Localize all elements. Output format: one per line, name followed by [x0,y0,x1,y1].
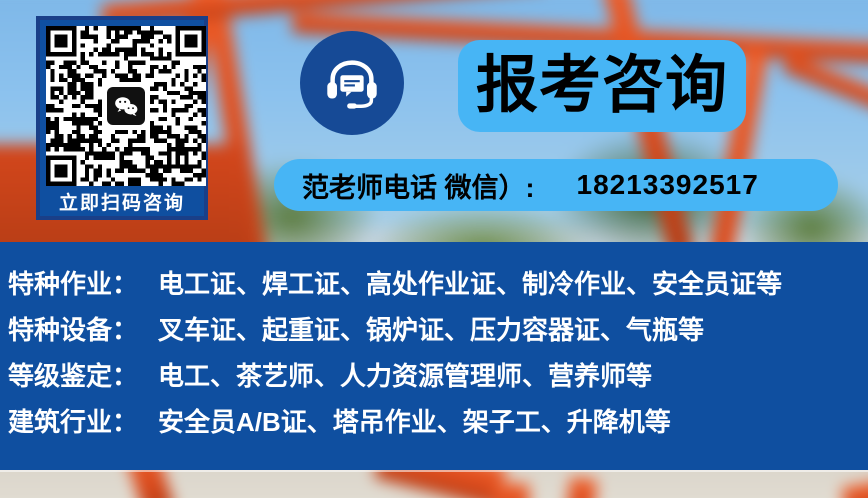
category-label: 等级鉴定： [8,356,158,393]
section-divider [0,470,868,472]
category-label: 特种作业： [8,264,158,301]
category-value: 电工、茶艺师、人力资源管理师、营养师等 [158,356,652,393]
list-item: 等级鉴定： 电工、茶艺师、人力资源管理师、营养师等 [8,356,868,402]
contact-phone-number[interactable]: 18213392517 [577,169,759,201]
category-label: 建筑行业： [8,402,158,439]
category-value: 电工证、焊工证、高处作业证、制冷作业、安全员证等 [158,264,782,301]
qr-card-caption: 立即扫码咨询 [46,186,198,222]
category-label: 特种设备： [8,310,158,347]
promo-poster: 立即扫码咨询 报考咨询 范老师电话 微信）: 18213392517 特种作业：… [0,0,868,498]
scaffold-beam [493,483,529,498]
wechat-icon [107,87,145,125]
headset-support-icon [300,31,404,135]
headline-badge: 报考咨询 [458,40,746,132]
category-list: 特种作业： 电工证、焊工证、高处作业证、制冷作业、安全员证等 特种设备： 叉车证… [0,242,868,470]
contact-pill[interactable]: 范老师电话 微信）: 18213392517 [274,159,838,211]
list-item: 特种作业： 电工证、焊工证、高处作业证、制冷作业、安全员证等 [8,264,868,310]
category-value: 叉车证、起重证、锅炉证、压力容器证、气瓶等 [158,310,704,347]
contact-label: 范老师电话 微信）: [302,166,535,205]
scaffold-beam [565,477,597,498]
category-value: 安全员A/B证、塔吊作业、架子工、升降机等 [158,402,671,439]
list-item: 建筑行业： 安全员A/B证、塔吊作业、架子工、升降机等 [8,402,868,448]
list-item: 特种设备： 叉车证、起重证、锅炉证、压力容器证、气瓶等 [8,310,868,356]
headline-text: 报考咨询 [476,55,728,117]
qr-code-card[interactable]: 立即扫码咨询 [36,16,208,220]
qr-code-image[interactable] [46,26,206,186]
